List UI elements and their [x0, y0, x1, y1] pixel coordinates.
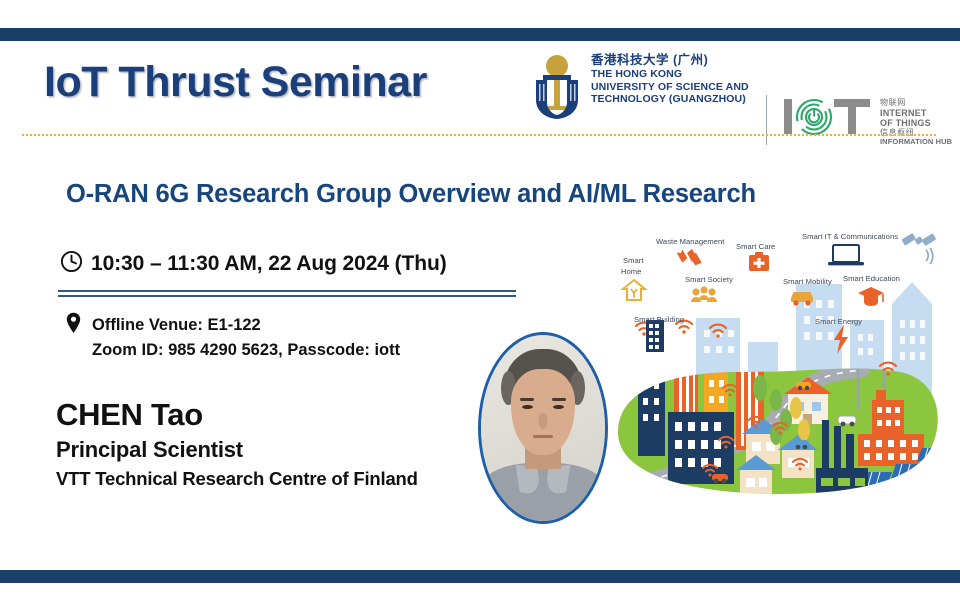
hkust-chinese-name: 香港科技大学 (广州) [591, 53, 763, 68]
location-pin-icon [66, 312, 81, 339]
illustration-label: Waste Management [656, 237, 724, 246]
section-rule [58, 290, 516, 297]
seminar-series-title: IoT Thrust Seminar [44, 58, 427, 107]
seminar-time-text: 10:30 – 11:30 AM, 22 Aug 2024 (Thu) [91, 252, 447, 276]
hkust-gz-logo: 香港科技大学 (广州) THE HONG KONG UNIVERSITY OF … [529, 49, 761, 125]
venue-zoom: Zoom ID: 985 4290 5623, Passcode: iott [92, 338, 400, 363]
portrait-face [511, 369, 575, 455]
hkust-english-line3: TECHNOLOGY (GUANGZHOU) [591, 93, 763, 106]
illustration-label: Smart Education [843, 274, 900, 283]
illustration-label: Smart Society [685, 275, 733, 284]
speaker-block: CHEN Tao Principal Scientist VTT Technic… [56, 396, 418, 492]
hkust-english-line2: UNIVERSITY OF SCIENCE AND [591, 81, 763, 94]
venue-block: Offline Venue: E1-122 Zoom ID: 985 4290 … [66, 312, 400, 363]
iot-information-hub-logo: 物联网 INTERNET OF THINGS 信息枢纽 INFORMATION … [782, 96, 954, 146]
seminar-time-row: 10:30 – 11:30 AM, 22 Aug 2024 (Thu) [60, 250, 447, 278]
seminar-poster: IoT Thrust Seminar 香港科技大学 (广州) [0, 0, 960, 600]
speaker-role: Principal Scientist [56, 434, 418, 465]
bottom-navy-bar [0, 570, 960, 583]
speaker-photo-image [481, 335, 605, 521]
speaker-organization: VTT Technical Research Centre of Finland [56, 465, 418, 492]
smart-city-illustration: Waste Management Smart Home Smart Care S… [600, 222, 960, 542]
speaker-name: CHEN Tao [56, 396, 418, 434]
iot-english-line1: INTERNET [880, 108, 956, 118]
hkust-english-line1: THE HONG KONG [591, 68, 763, 81]
talk-title: O-RAN 6G Research Group Overview and AI/… [66, 180, 756, 209]
gold-dotted-divider [22, 134, 938, 136]
clock-icon [60, 250, 83, 278]
illustration-label: Smart IT & Communications [802, 232, 898, 241]
illustration-label: Smart [623, 256, 644, 265]
top-navy-bar [0, 28, 960, 41]
illustration-label: Smart Mobility [783, 277, 832, 286]
illustration-label: Smart Building [634, 315, 684, 324]
iot-logo-text: 物联网 INTERNET OF THINGS 信息枢纽 INFORMATION … [880, 98, 956, 147]
speaker-photo [478, 332, 608, 524]
iot-chinese-line1: 物联网 [880, 98, 956, 108]
illustration-label: Smart Energy [815, 317, 862, 326]
portrait-shirt [480, 463, 606, 524]
hkust-logo-text: 香港科技大学 (广州) THE HONG KONG UNIVERSITY OF … [591, 53, 763, 106]
illustration-label: Home [621, 267, 641, 276]
logo-separator [766, 95, 767, 145]
iot-english-line2: OF THINGS [880, 118, 956, 128]
venue-lines: Offline Venue: E1-122 Zoom ID: 985 4290 … [92, 312, 400, 363]
venue-offline: Offline Venue: E1-122 [92, 313, 400, 338]
hkust-emblem-icon [529, 54, 585, 120]
illustration-label: Smart Care [736, 242, 775, 251]
poster-header: IoT Thrust Seminar 香港科技大学 (广州) [0, 41, 960, 133]
iot-english-line3: INFORMATION HUB [880, 137, 956, 147]
